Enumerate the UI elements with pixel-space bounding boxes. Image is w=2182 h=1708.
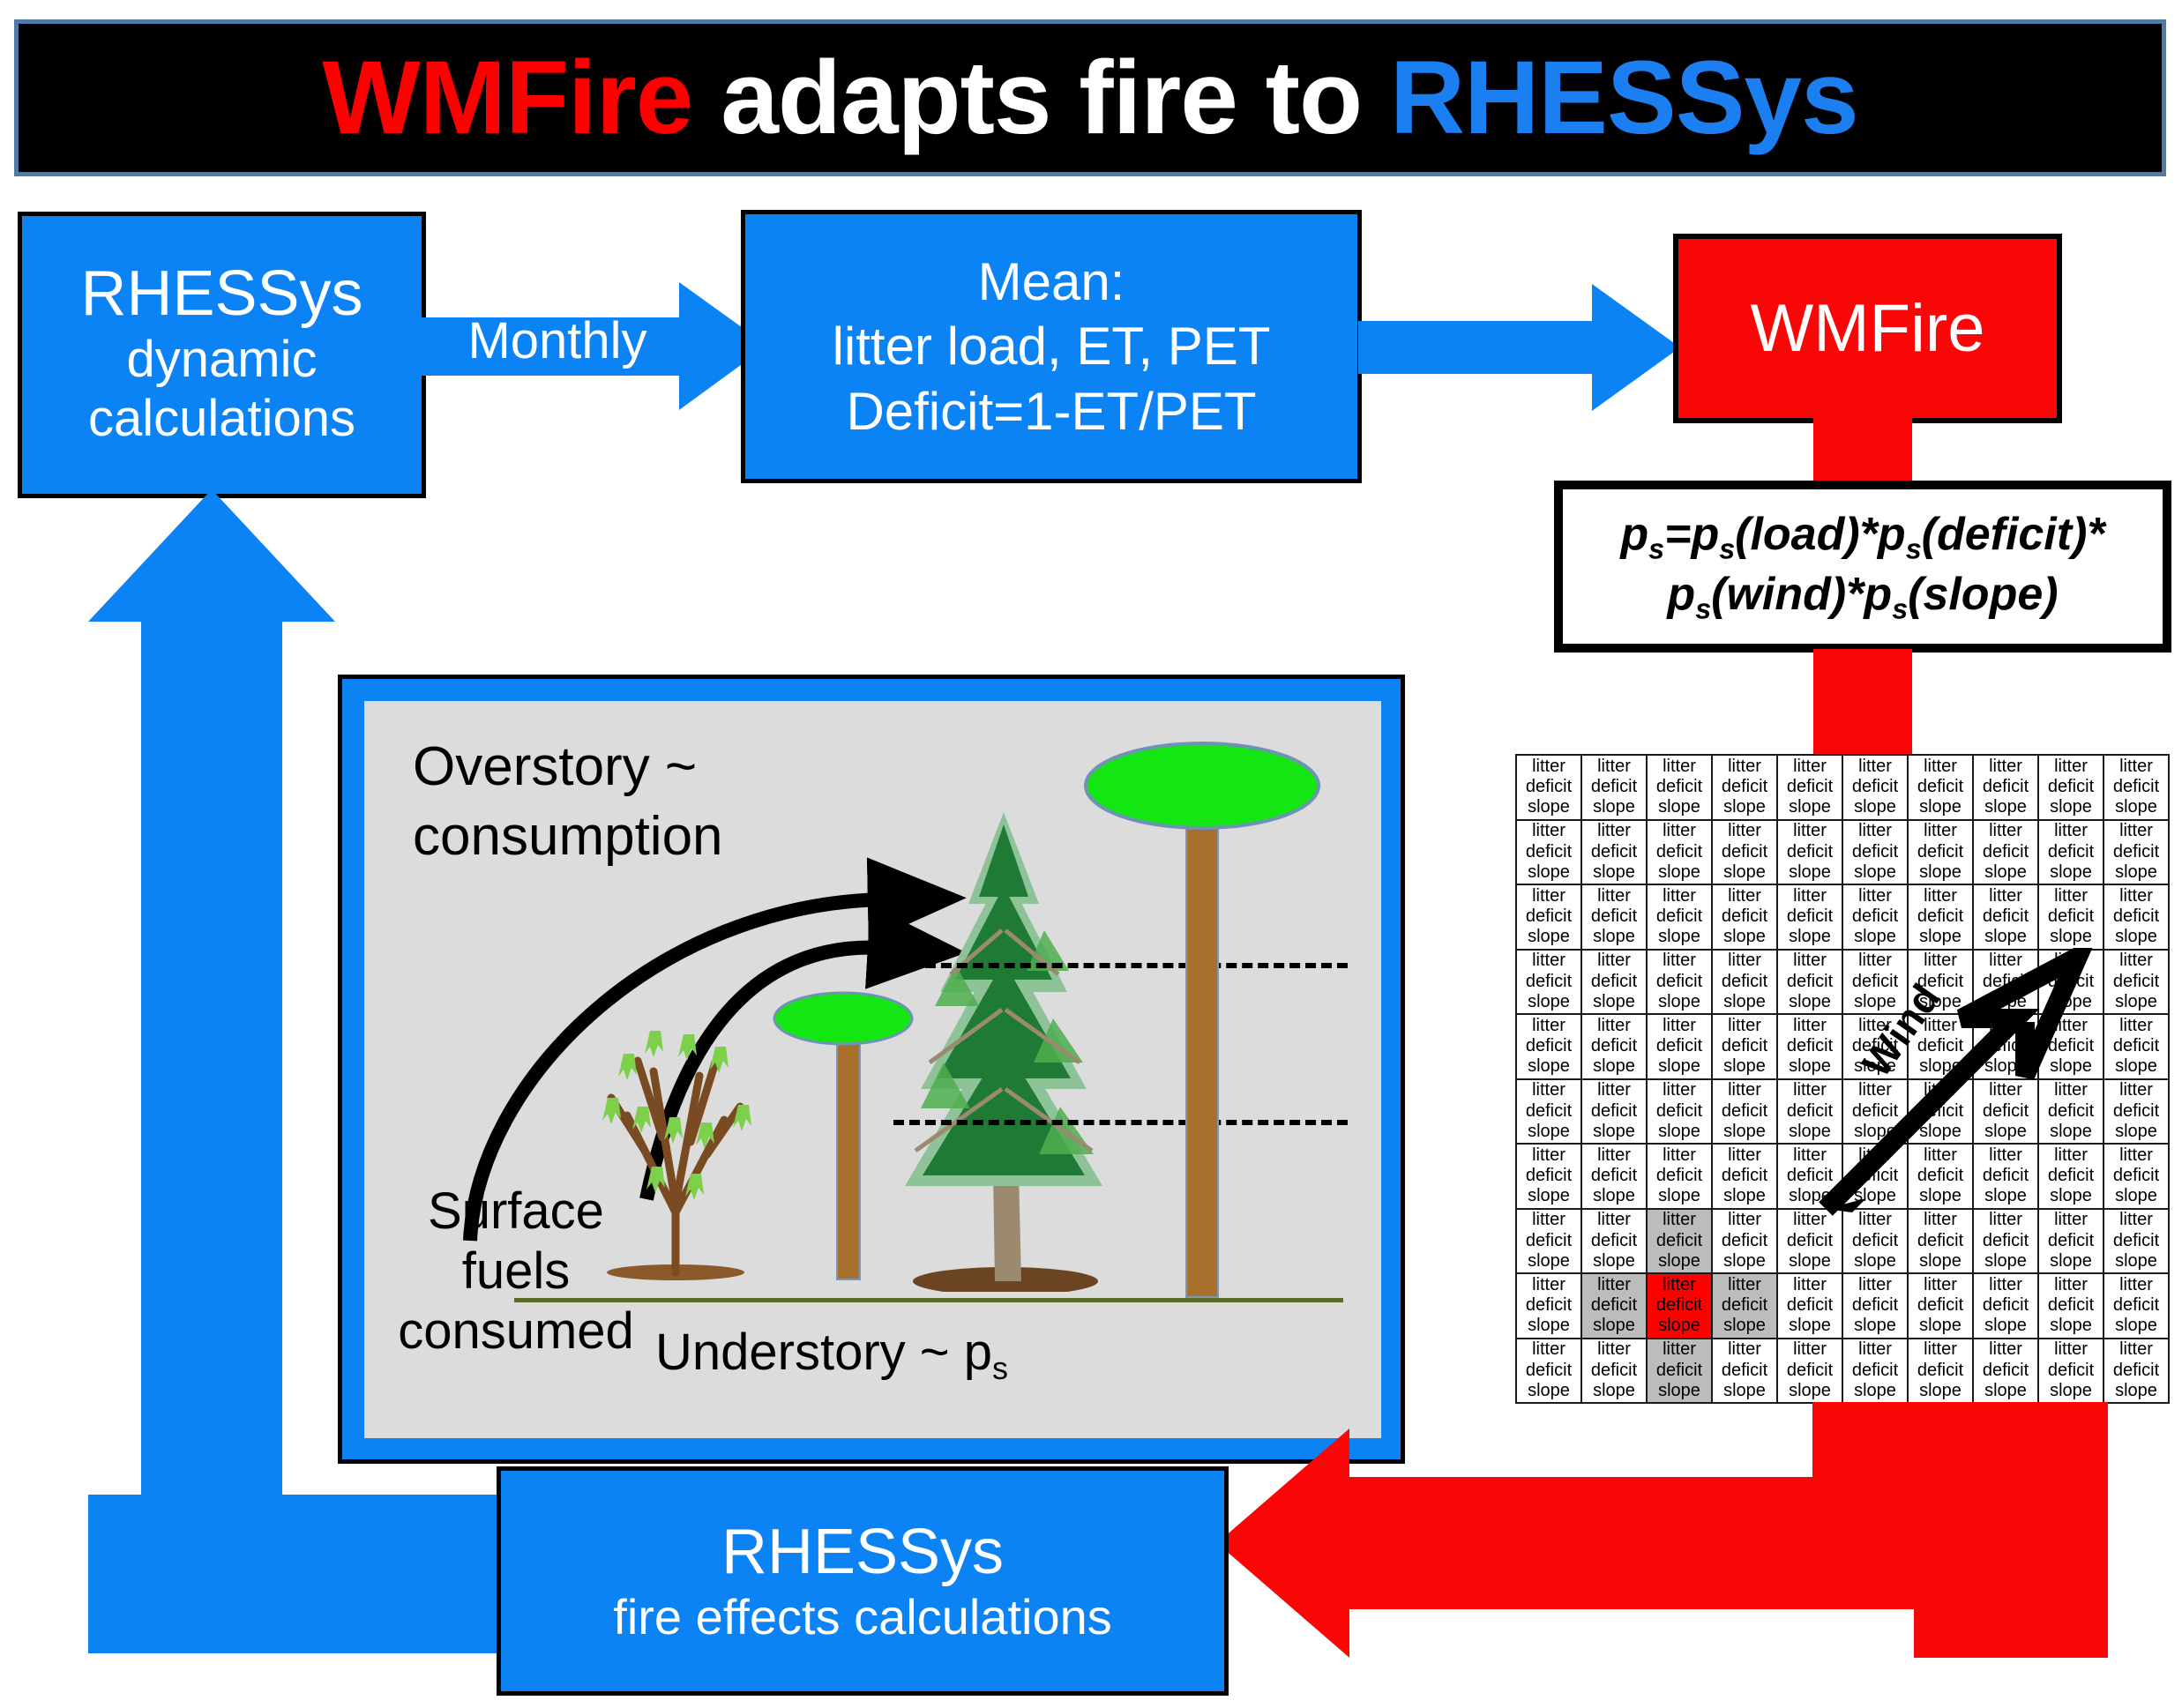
fuel-cell-litter: litter bbox=[1597, 757, 1631, 777]
fuel-cell-deficit: deficit bbox=[1722, 972, 1767, 992]
sapling-icon bbox=[768, 976, 918, 1285]
fuel-cell[interactable]: litterdeficitslope bbox=[1713, 1339, 1778, 1405]
fuel-cell-litter: litter bbox=[2119, 886, 2153, 906]
box-rhessys-dynamic-line3: calculations bbox=[88, 390, 355, 449]
fuel-cell-deficit: deficit bbox=[1852, 906, 1898, 927]
fuel-cell-slope: slope bbox=[1593, 1122, 1635, 1142]
fuel-cell[interactable]: litterdeficitslope bbox=[1909, 756, 1974, 821]
fuel-cell[interactable]: litterdeficitslope bbox=[1517, 1015, 1582, 1080]
fuel-cell-slope: slope bbox=[1919, 1316, 1962, 1336]
fuel-cell-litter: litter bbox=[1858, 757, 1892, 777]
fuel-cell-deficit: deficit bbox=[1526, 1231, 1572, 1251]
label-understory: Understory ~ ps bbox=[655, 1323, 1008, 1387]
fuel-cell-deficit: deficit bbox=[1983, 1295, 2029, 1316]
fuel-cell[interactable]: litterdeficitslope bbox=[2104, 1339, 2170, 1405]
page-title: WMFire adapts fire to RHESSys bbox=[322, 46, 1857, 150]
fuel-cell-deficit: deficit bbox=[1787, 777, 1833, 797]
fuel-cell-deficit: deficit bbox=[1917, 1361, 1963, 1381]
fuel-cell[interactable]: litterdeficitslope bbox=[1648, 1339, 1713, 1405]
fuel-cell-slope: slope bbox=[1528, 1251, 1570, 1272]
fuel-cell[interactable]: litterdeficitslope bbox=[1843, 885, 1909, 951]
fuel-cell-deficit: deficit bbox=[1852, 777, 1898, 797]
fuel-cell-litter: litter bbox=[1728, 1016, 1761, 1036]
fuel-cell[interactable]: litterdeficitslope bbox=[1974, 1339, 2039, 1405]
fuel-cell-slope: slope bbox=[1854, 1381, 1896, 1401]
fuel-cell-deficit: deficit bbox=[1656, 1295, 1702, 1316]
fuel-cell-deficit: deficit bbox=[1591, 972, 1637, 992]
fuel-cell[interactable]: litterdeficitslope bbox=[1713, 1274, 1778, 1339]
fuel-cell-deficit: deficit bbox=[1787, 906, 1833, 927]
fuel-cell-deficit: deficit bbox=[1591, 1231, 1637, 1251]
fuel-cell-litter: litter bbox=[1728, 821, 1761, 841]
fuel-cell[interactable]: litterdeficitslope bbox=[1648, 1274, 1713, 1339]
arrow-mean-to-wmfire bbox=[1358, 284, 1680, 443]
fuel-cell-slope: slope bbox=[2115, 1122, 2157, 1142]
fuel-cell[interactable]: litterdeficitslope bbox=[2104, 756, 2170, 821]
fuel-cell[interactable]: litterdeficitslope bbox=[2104, 1015, 2170, 1080]
fuel-cell-slope: slope bbox=[2050, 1381, 2092, 1401]
fuel-cell[interactable]: litterdeficitslope bbox=[1582, 1274, 1648, 1339]
fuel-cell-slope: slope bbox=[1658, 862, 1700, 883]
fuel-cell-slope: slope bbox=[1528, 1381, 1570, 1401]
fuel-cell-litter: litter bbox=[1924, 1339, 1957, 1360]
fuel-cell-litter: litter bbox=[1663, 1016, 1696, 1036]
fuel-cell-slope: slope bbox=[2115, 1381, 2157, 1401]
fuel-cell[interactable]: litterdeficitslope bbox=[1517, 1210, 1582, 1275]
fuel-cell[interactable]: litterdeficitslope bbox=[1582, 1210, 1648, 1275]
fuel-cell-litter: litter bbox=[1532, 1080, 1566, 1100]
fuel-cell-deficit: deficit bbox=[1787, 1295, 1833, 1316]
fuel-cell-slope: slope bbox=[1984, 927, 2027, 947]
fuel-cell-deficit: deficit bbox=[1917, 906, 1963, 927]
fuel-cell-deficit: deficit bbox=[1656, 1036, 1702, 1056]
fuel-cell-slope: slope bbox=[1723, 1056, 1766, 1077]
fuel-cell-deficit: deficit bbox=[1722, 1036, 1767, 1056]
fuel-cell[interactable]: litterdeficitslope bbox=[1582, 1015, 1648, 1080]
fuel-cell[interactable]: litterdeficitslope bbox=[1909, 885, 1974, 951]
fuel-cell-litter: litter bbox=[1663, 1339, 1696, 1360]
fuel-cell-litter: litter bbox=[1597, 1016, 1631, 1036]
fuel-cell[interactable]: litterdeficitslope bbox=[2039, 756, 2104, 821]
fuel-cell-deficit: deficit bbox=[1526, 842, 1572, 862]
fuel-cell-litter: litter bbox=[1597, 1210, 1631, 1230]
fuel-cell[interactable]: litterdeficitslope bbox=[1843, 756, 1909, 821]
fuel-cell-litter: litter bbox=[1663, 757, 1696, 777]
fuel-cell-litter: litter bbox=[1597, 886, 1631, 906]
fuel-cell-slope: slope bbox=[1723, 1381, 1766, 1401]
title-part-wmfire: WMFire bbox=[322, 40, 692, 156]
fuel-cell-slope: slope bbox=[1789, 1381, 1831, 1401]
fuel-cell[interactable]: litterdeficitslope bbox=[1843, 1274, 1909, 1339]
fuel-cell[interactable]: litterdeficitslope bbox=[1778, 821, 1843, 886]
fuel-cell-deficit: deficit bbox=[2113, 1036, 2159, 1056]
fuel-cell[interactable]: litterdeficitslope bbox=[1582, 1080, 1648, 1145]
fuel-cell-deficit: deficit bbox=[1656, 1361, 1702, 1381]
fuel-cell[interactable]: litterdeficitslope bbox=[1974, 756, 2039, 821]
fuel-cell-litter: litter bbox=[2119, 821, 2153, 841]
fuel-cell-slope: slope bbox=[1593, 1056, 1635, 1077]
fuel-cell-slope: slope bbox=[1658, 927, 1700, 947]
fuel-cell-deficit: deficit bbox=[1526, 1101, 1572, 1122]
arrow-monthly-label: Monthly bbox=[438, 310, 676, 372]
fuel-cell-slope: slope bbox=[2115, 992, 2157, 1012]
fuel-cell-slope: slope bbox=[1854, 862, 1896, 883]
fuel-cell-slope: slope bbox=[1789, 1316, 1831, 1336]
connector-equation-to-grid bbox=[1813, 649, 1912, 759]
fuel-cell[interactable]: litterdeficitslope bbox=[1974, 885, 2039, 951]
fuel-cell-deficit: deficit bbox=[1656, 1101, 1702, 1122]
fuel-cell[interactable]: litterdeficitslope bbox=[1713, 1145, 1778, 1210]
fuel-cell-litter: litter bbox=[1728, 951, 1761, 971]
fuel-cell-slope: slope bbox=[1528, 992, 1570, 1012]
fuel-cell-litter: litter bbox=[1663, 821, 1696, 841]
fuel-cell-litter: litter bbox=[1532, 821, 1566, 841]
fuel-cell-deficit: deficit bbox=[1917, 777, 1963, 797]
box-rhessys-fire-line2: fire effects calculations bbox=[613, 1592, 1111, 1642]
fuel-cell-deficit: deficit bbox=[2113, 777, 2159, 797]
fuel-cell-slope: slope bbox=[1658, 797, 1700, 817]
fuel-cell-slope: slope bbox=[2050, 797, 2092, 817]
fuel-cell[interactable]: litterdeficitslope bbox=[2104, 885, 2170, 951]
fuel-cell-slope: slope bbox=[1528, 1186, 1570, 1206]
fuel-cell[interactable]: litterdeficitslope bbox=[1713, 1080, 1778, 1145]
fuel-cell[interactable]: litterdeficitslope bbox=[1517, 885, 1582, 951]
box-mean-inputs[interactable]: Mean: litter load, ET, PET Deficit=1-ET/… bbox=[741, 210, 1362, 483]
fuel-cell[interactable]: litterdeficitslope bbox=[1713, 756, 1778, 821]
fuel-cell[interactable]: litterdeficitslope bbox=[1713, 885, 1778, 951]
fuel-cell-slope: slope bbox=[1984, 797, 2027, 817]
fuel-cell[interactable]: litterdeficitslope bbox=[1582, 756, 1648, 821]
fuel-cell[interactable]: litterdeficitslope bbox=[2039, 1274, 2104, 1339]
fuel-cell-litter: litter bbox=[1858, 1275, 1892, 1295]
box-mean-line1: Mean: bbox=[978, 250, 1125, 314]
fuel-cell[interactable]: litterdeficitslope bbox=[1713, 821, 1778, 886]
fuel-cell-deficit: deficit bbox=[1656, 777, 1702, 797]
fuel-cell[interactable]: litterdeficitslope bbox=[1713, 951, 1778, 1016]
fuel-cell-deficit: deficit bbox=[1526, 906, 1572, 927]
fuel-cell-slope: slope bbox=[2115, 1186, 2157, 1206]
fuel-cell-litter: litter bbox=[2119, 1210, 2153, 1230]
fuel-cell-deficit: deficit bbox=[1722, 1295, 1767, 1316]
fuel-cell-litter: litter bbox=[1532, 951, 1566, 971]
fuel-cell[interactable]: litterdeficitslope bbox=[1517, 1145, 1582, 1210]
fuel-cell-deficit: deficit bbox=[2113, 1101, 2159, 1122]
fuel-cell-deficit: deficit bbox=[1722, 906, 1767, 927]
fuel-cell-slope: slope bbox=[1789, 927, 1831, 947]
fuel-cell-slope: slope bbox=[1919, 797, 1962, 817]
fuel-cell[interactable]: litterdeficitslope bbox=[1713, 1210, 1778, 1275]
equation-line-1: ps=ps(load)*ps(deficit)* bbox=[1620, 507, 2104, 567]
label-understory-text: Understory ~ p bbox=[655, 1324, 992, 1381]
fuel-cell-deficit: deficit bbox=[1591, 1166, 1637, 1186]
fuel-cell-deficit: deficit bbox=[1526, 777, 1572, 797]
fuel-cell-slope: slope bbox=[1593, 862, 1635, 883]
fuel-cell-deficit: deficit bbox=[1983, 777, 2029, 797]
fuel-cell-litter: litter bbox=[1989, 821, 2022, 841]
box-rhessys-fire-effects[interactable]: RHESSys fire effects calculations bbox=[497, 1466, 1229, 1696]
box-rhessys-dynamic-line1: RHESSys bbox=[80, 262, 362, 325]
fuel-cell-slope: slope bbox=[1919, 1251, 1962, 1272]
fuel-cell-slope: slope bbox=[1658, 1056, 1700, 1077]
fuel-cell-slope: slope bbox=[1984, 862, 2027, 883]
fuel-cell[interactable]: litterdeficitslope bbox=[1582, 821, 1648, 886]
fuel-cell[interactable]: litterdeficitslope bbox=[1582, 1145, 1648, 1210]
fuel-cell-slope: slope bbox=[1854, 1316, 1896, 1336]
title-part-middle: adapts fire to bbox=[692, 40, 1389, 156]
fuel-cell-litter: litter bbox=[1597, 1145, 1631, 1166]
fuel-cell-slope: slope bbox=[1723, 1316, 1766, 1336]
fuel-cell[interactable]: litterdeficitslope bbox=[1778, 885, 1843, 951]
box-rhessys-dynamic-calculations[interactable]: RHESSys dynamic calculations bbox=[18, 212, 426, 498]
fuel-cell-deficit: deficit bbox=[2113, 1361, 2159, 1381]
box-rhessys-dynamic-line2: dynamic bbox=[127, 331, 318, 390]
fuel-cell-deficit: deficit bbox=[1852, 1231, 1898, 1251]
fuel-cell[interactable]: litterdeficitslope bbox=[1778, 1339, 1843, 1405]
fuel-cell-slope: slope bbox=[1593, 797, 1635, 817]
fuel-cell-slope: slope bbox=[1723, 1251, 1766, 1272]
fuel-cell[interactable]: litterdeficitslope bbox=[1778, 756, 1843, 821]
fuel-cell-litter: litter bbox=[1793, 1339, 1827, 1360]
fuel-cell-litter: litter bbox=[1597, 951, 1631, 971]
fuel-cell-slope: slope bbox=[2115, 927, 2157, 947]
fuel-cell-litter: litter bbox=[1532, 1016, 1566, 1036]
fuel-cell-slope: slope bbox=[2115, 1251, 2157, 1272]
tall-sapling-icon bbox=[1070, 717, 1334, 1299]
box-mean-line3: Deficit=1-ET/PET bbox=[846, 379, 1256, 444]
fuel-cell[interactable]: litterdeficitslope bbox=[1974, 821, 2039, 886]
fuel-cell[interactable]: litterdeficitslope bbox=[1517, 756, 1582, 821]
fuel-cell-deficit: deficit bbox=[1591, 842, 1637, 862]
box-rhessys-fire-line1: RHESSys bbox=[721, 1520, 1004, 1584]
fuel-cell-deficit: deficit bbox=[2048, 1295, 2094, 1316]
fuel-cell-deficit: deficit bbox=[1852, 842, 1898, 862]
fuel-cell-deficit: deficit bbox=[1917, 1295, 1963, 1316]
fuel-cell[interactable]: litterdeficitslope bbox=[2104, 1210, 2170, 1275]
fuel-cell-litter: litter bbox=[1728, 886, 1761, 906]
fuel-cell-deficit: deficit bbox=[1526, 1036, 1572, 1056]
box-ps-equation: ps=ps(load)*ps(deficit)* ps(wind)*ps(slo… bbox=[1554, 481, 2171, 653]
fuel-cell-slope: slope bbox=[1789, 797, 1831, 817]
fuel-cell-slope: slope bbox=[2115, 797, 2157, 817]
fuel-cell-deficit: deficit bbox=[1656, 1231, 1702, 1251]
arrow-grid-to-rhessys-fire bbox=[1217, 1402, 2099, 1667]
wind-arrow-icon bbox=[1813, 948, 2096, 1221]
fuel-cell-slope: slope bbox=[1723, 797, 1766, 817]
fuel-cell[interactable]: litterdeficitslope bbox=[1909, 821, 1974, 886]
fuel-cell-litter: litter bbox=[2054, 1339, 2088, 1360]
fuel-cell-deficit: deficit bbox=[1722, 842, 1767, 862]
title-part-rhessys: RHESSys bbox=[1390, 40, 1858, 156]
fuel-cell-deficit: deficit bbox=[2113, 1166, 2159, 1186]
fuel-cell[interactable]: litterdeficitslope bbox=[1517, 1080, 1582, 1145]
fuel-cell-deficit: deficit bbox=[1591, 1036, 1637, 1056]
fuel-cell-slope: slope bbox=[1919, 862, 1962, 883]
fuel-cell[interactable]: litterdeficitslope bbox=[1582, 885, 1648, 951]
fuel-cell-slope: slope bbox=[1854, 797, 1896, 817]
fuel-cell[interactable]: litterdeficitslope bbox=[1974, 1274, 2039, 1339]
fuel-cell-deficit: deficit bbox=[1526, 1295, 1572, 1316]
fuel-cell-litter: litter bbox=[1858, 1339, 1892, 1360]
fuel-cell-slope: slope bbox=[1658, 1122, 1700, 1142]
fuel-cell[interactable]: litterdeficitslope bbox=[2104, 821, 2170, 886]
fuel-cell[interactable]: litterdeficitslope bbox=[1843, 821, 1909, 886]
fuel-cell-litter: litter bbox=[2119, 1145, 2153, 1166]
fuel-cell-deficit: deficit bbox=[1591, 1295, 1637, 1316]
box-wmfire[interactable]: WMFire bbox=[1673, 234, 2062, 423]
fuel-cell[interactable]: litterdeficitslope bbox=[1648, 951, 1713, 1016]
fuel-cell[interactable]: litterdeficitslope bbox=[1648, 1015, 1713, 1080]
fuel-cell-litter: litter bbox=[1858, 821, 1892, 841]
fuel-cell-deficit: deficit bbox=[2048, 1231, 2094, 1251]
fuel-cell-litter: litter bbox=[2054, 886, 2088, 906]
fuel-cell[interactable]: litterdeficitslope bbox=[2104, 1274, 2170, 1339]
fuel-cell-slope: slope bbox=[1789, 1251, 1831, 1272]
fuel-cell-deficit: deficit bbox=[1526, 1166, 1572, 1186]
fuel-cell[interactable]: litterdeficitslope bbox=[1648, 821, 1713, 886]
fuel-cell-litter: litter bbox=[1663, 1145, 1696, 1166]
fuel-cell-slope: slope bbox=[1593, 1381, 1635, 1401]
fuel-cell-deficit: deficit bbox=[1983, 842, 2029, 862]
fuel-cell-litter: litter bbox=[2054, 821, 2088, 841]
fuel-cell-slope: slope bbox=[1984, 1381, 2027, 1401]
fuel-cell-litter: litter bbox=[1532, 1275, 1566, 1295]
fuel-cell[interactable]: litterdeficitslope bbox=[1648, 1210, 1713, 1275]
fuel-cell-slope: slope bbox=[1658, 992, 1700, 1012]
fuel-cell[interactable]: litterdeficitslope bbox=[2039, 885, 2104, 951]
fuel-cell-slope: slope bbox=[2050, 862, 2092, 883]
fuel-cell-deficit: deficit bbox=[1917, 842, 1963, 862]
fuel-cell-deficit: deficit bbox=[1656, 906, 1702, 927]
fuel-cell-slope: slope bbox=[2050, 927, 2092, 947]
fuel-cell[interactable]: litterdeficitslope bbox=[1582, 1339, 1648, 1405]
fuel-cell-deficit: deficit bbox=[1983, 906, 2029, 927]
fuel-cell-litter: litter bbox=[1793, 821, 1827, 841]
fuel-cell-deficit: deficit bbox=[2048, 842, 2094, 862]
fuel-cell-litter: litter bbox=[1532, 1210, 1566, 1230]
fuel-cell[interactable]: litterdeficitslope bbox=[2104, 951, 2170, 1016]
fuel-cell-litter: litter bbox=[1663, 1080, 1696, 1100]
fuel-cell-deficit: deficit bbox=[1852, 1295, 1898, 1316]
fuel-cell-litter: litter bbox=[2054, 1275, 2088, 1295]
fuel-cell-slope: slope bbox=[1658, 1251, 1700, 1272]
fuel-cell-litter: litter bbox=[2119, 951, 2153, 971]
fuel-cell[interactable]: litterdeficitslope bbox=[1648, 1080, 1713, 1145]
fuel-cell-slope: slope bbox=[1593, 1186, 1635, 1206]
fuel-cell-litter: litter bbox=[2119, 757, 2153, 777]
fuel-cell-litter: litter bbox=[1793, 886, 1827, 906]
fuel-cell-deficit: deficit bbox=[1526, 1361, 1572, 1381]
fuel-cell[interactable]: litterdeficitslope bbox=[1909, 1339, 1974, 1405]
fuel-cell-deficit: deficit bbox=[1591, 1101, 1637, 1122]
fuel-cell[interactable]: litterdeficitslope bbox=[1517, 821, 1582, 886]
fuel-cell-slope: slope bbox=[1723, 927, 1766, 947]
fuel-cell-deficit: deficit bbox=[2113, 1231, 2159, 1251]
fuel-cell-litter: litter bbox=[2119, 1016, 2153, 1036]
fuel-cell[interactable]: litterdeficitslope bbox=[1778, 1274, 1843, 1339]
fuel-cell-deficit: deficit bbox=[1526, 972, 1572, 992]
fuel-cell-slope: slope bbox=[1528, 1056, 1570, 1077]
fuel-cell[interactable]: litterdeficitslope bbox=[1648, 1145, 1713, 1210]
fuel-cell-slope: slope bbox=[1658, 1381, 1700, 1401]
fuel-cell[interactable]: litterdeficitslope bbox=[1843, 1339, 1909, 1405]
fuel-cell[interactable]: litterdeficitslope bbox=[1517, 951, 1582, 1016]
fuel-cell-litter: litter bbox=[1989, 1339, 2022, 1360]
fuel-cell[interactable]: litterdeficitslope bbox=[1648, 756, 1713, 821]
fuel-cell-slope: slope bbox=[1593, 992, 1635, 1012]
fuel-cell-slope: slope bbox=[1789, 862, 1831, 883]
fuel-cell[interactable]: litterdeficitslope bbox=[2039, 1339, 2104, 1405]
fuel-cell-litter: litter bbox=[1924, 757, 1957, 777]
fuel-cell-slope: slope bbox=[1593, 1316, 1635, 1336]
fuel-cell-slope: slope bbox=[1528, 1316, 1570, 1336]
fuel-cell-slope: slope bbox=[1984, 1251, 2027, 1272]
fuel-cell[interactable]: litterdeficitslope bbox=[2039, 821, 2104, 886]
fuel-cell-litter: litter bbox=[1989, 1275, 2022, 1295]
fuel-cell-deficit: deficit bbox=[1787, 842, 1833, 862]
fuel-cell-litter: litter bbox=[1924, 886, 1957, 906]
fuel-cell-slope: slope bbox=[1919, 1381, 1962, 1401]
fuel-cell-deficit: deficit bbox=[2113, 906, 2159, 927]
fuel-cell-slope: slope bbox=[1593, 1251, 1635, 1272]
fuel-cell-slope: slope bbox=[2115, 1316, 2157, 1336]
fuel-cell-litter: litter bbox=[2119, 1339, 2153, 1360]
fuel-cell[interactable]: litterdeficitslope bbox=[2104, 1080, 2170, 1145]
fuel-cell-litter: litter bbox=[2054, 757, 2088, 777]
fuel-cell-slope: slope bbox=[1723, 1122, 1766, 1142]
fuel-cell-deficit: deficit bbox=[1591, 906, 1637, 927]
fuel-cell-deficit: deficit bbox=[1591, 1361, 1637, 1381]
fuel-cell-slope: slope bbox=[1723, 992, 1766, 1012]
fuel-cell-deficit: deficit bbox=[1787, 1361, 1833, 1381]
fuel-cell-litter: litter bbox=[1532, 1339, 1566, 1360]
fuel-cell-deficit: deficit bbox=[1722, 777, 1767, 797]
fuel-cell-litter: litter bbox=[1728, 1275, 1761, 1295]
box-wmfire-label: WMFire bbox=[1751, 290, 1985, 367]
fuel-cell-litter: litter bbox=[1858, 886, 1892, 906]
fuel-cell-litter: litter bbox=[2119, 1080, 2153, 1100]
fuel-cell-litter: litter bbox=[1597, 1275, 1631, 1295]
fuel-cell[interactable]: litterdeficitslope bbox=[1582, 951, 1648, 1016]
fuel-cell-slope: slope bbox=[2050, 1316, 2092, 1336]
fuel-cell-litter: litter bbox=[1728, 757, 1761, 777]
fuel-cell[interactable]: litterdeficitslope bbox=[1517, 1274, 1582, 1339]
fuel-cell[interactable]: litterdeficitslope bbox=[2104, 1145, 2170, 1210]
fuel-cell-deficit: deficit bbox=[1722, 1101, 1767, 1122]
fuel-cell[interactable]: litterdeficitslope bbox=[1517, 1339, 1582, 1405]
fuel-cell-slope: slope bbox=[1854, 1251, 1896, 1272]
fuel-cell-deficit: deficit bbox=[1852, 1361, 1898, 1381]
fuel-cell-slope: slope bbox=[1528, 927, 1570, 947]
fuel-cell-litter: litter bbox=[1663, 1275, 1696, 1295]
fuel-cell[interactable]: litterdeficitslope bbox=[1909, 1274, 1974, 1339]
fuel-cell-litter: litter bbox=[1532, 1145, 1566, 1166]
fuel-cell-litter: litter bbox=[1924, 1275, 1957, 1295]
fuel-cell-slope: slope bbox=[2050, 1251, 2092, 1272]
fuel-cell-litter: litter bbox=[1989, 757, 2022, 777]
fuel-cell-slope: slope bbox=[1658, 1316, 1700, 1336]
fuel-cell[interactable]: litterdeficitslope bbox=[1713, 1015, 1778, 1080]
fuel-cell-litter: litter bbox=[1663, 886, 1696, 906]
fuel-cell-slope: slope bbox=[1528, 797, 1570, 817]
fuel-cell-litter: litter bbox=[1728, 1210, 1761, 1230]
fuel-cell[interactable]: litterdeficitslope bbox=[1648, 885, 1713, 951]
fuel-cell-deficit: deficit bbox=[2113, 1295, 2159, 1316]
fuel-cell-deficit: deficit bbox=[1983, 1361, 2029, 1381]
fuel-cell-slope: slope bbox=[1723, 1186, 1766, 1206]
fuel-cell-litter: litter bbox=[1924, 821, 1957, 841]
fuel-cell-deficit: deficit bbox=[1656, 972, 1702, 992]
fuel-cell-litter: litter bbox=[1793, 1275, 1827, 1295]
